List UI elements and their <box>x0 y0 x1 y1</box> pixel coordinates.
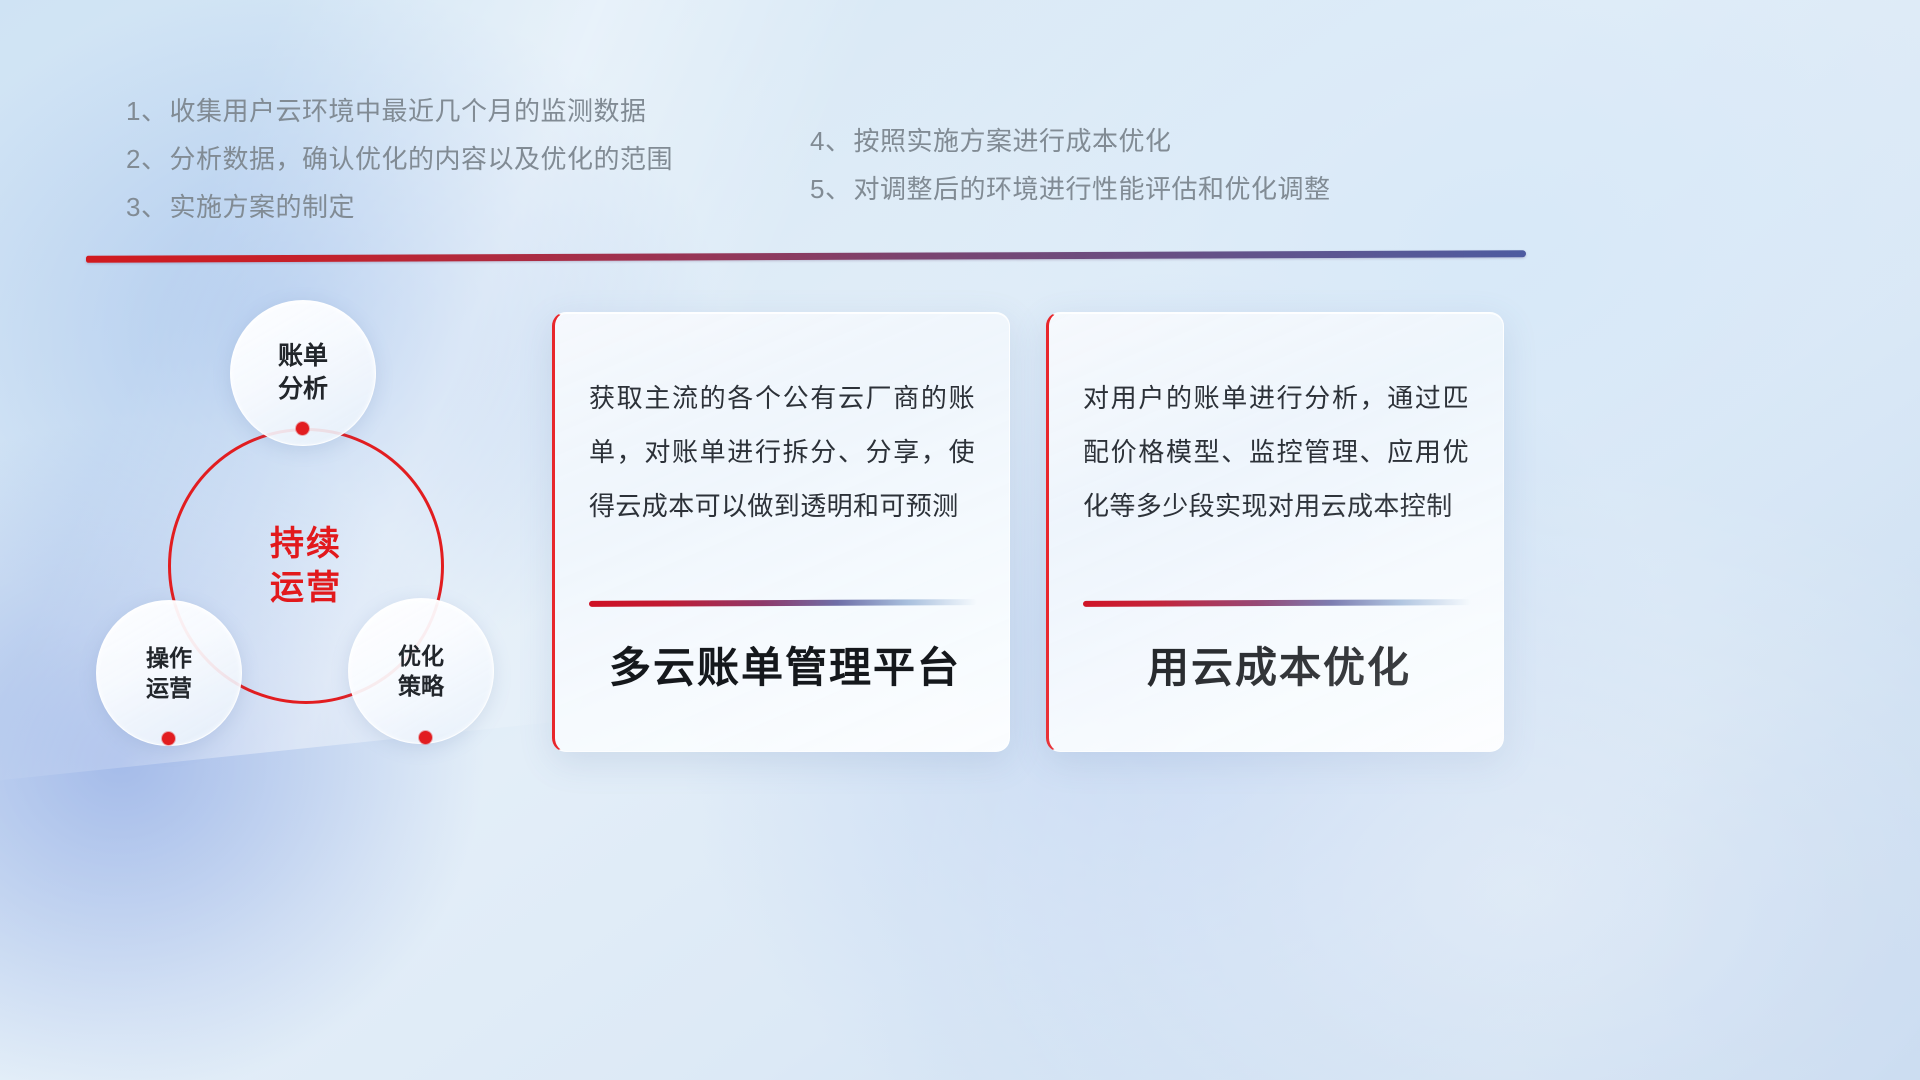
step-number: 1、 <box>126 96 167 126</box>
step-number: 5、 <box>810 174 851 204</box>
step-number: 2、 <box>126 144 167 174</box>
slide-canvas: 1、收集用户云环境中最近几个月的监测数据 2、分析数据，确认优化的内容以及优化的… <box>0 0 1920 1080</box>
step-item: 4、按照实施方案进行成本优化 <box>810 128 1330 154</box>
card-title: 用云成本优化 <box>1083 643 1475 693</box>
step-number: 4、 <box>810 126 851 156</box>
card-multicloud-billing-platform[interactable]: 获取主流的各个公有云厂商的账单，对账单进行拆分、分享，使得云成本可以做到透明和可… <box>552 312 1010 752</box>
connector-dot-left-icon <box>162 732 175 745</box>
step-item: 1、收集用户云环境中最近几个月的监测数据 <box>126 98 673 124</box>
continuous-operation-diagram: 持续 运营 账单 分析 操作 运营 优化 策略 <box>80 290 540 770</box>
card-cloud-cost-optimization[interactable]: 对用户的账单进行分析，通过匹配价格模型、监控管理、应用优化等多少段实现对用云成本… <box>1046 312 1504 752</box>
step-item: 5、对调整后的环境进行性能评估和优化调整 <box>810 176 1330 202</box>
steps-right-column: 4、按照实施方案进行成本优化 5、对调整后的环境进行性能评估和优化调整 <box>810 128 1330 224</box>
center-label-line-2: 运营 <box>270 566 342 610</box>
step-text: 按照实施方案进行成本优化 <box>853 126 1171 156</box>
step-text: 收集用户云环境中最近几个月的监测数据 <box>169 96 646 126</box>
step-item: 2、分析数据，确认优化的内容以及优化的范围 <box>126 146 673 172</box>
step-item: 3、实施方案的制定 <box>126 194 673 220</box>
card-accent-rule <box>589 599 977 607</box>
section-divider <box>86 250 1526 263</box>
step-number: 3、 <box>126 192 167 222</box>
card-title: 多云账单管理平台 <box>589 643 981 693</box>
node-label-line-1: 账单 <box>278 340 328 373</box>
steps-left-column: 1、收集用户云环境中最近几个月的监测数据 2、分析数据，确认优化的内容以及优化的… <box>126 98 673 242</box>
step-text: 实施方案的制定 <box>169 192 355 222</box>
center-ring-label: 持续 运营 <box>168 428 444 704</box>
step-text: 分析数据，确认优化的内容以及优化的范围 <box>169 144 673 174</box>
step-text: 对调整后的环境进行性能评估和优化调整 <box>853 174 1330 204</box>
center-label-line-1: 持续 <box>270 522 342 566</box>
card-accent-rule <box>1083 599 1471 607</box>
node-label-line-2: 分析 <box>278 373 328 406</box>
connector-dot-top-icon <box>296 422 309 435</box>
connector-dot-right-icon <box>419 731 432 744</box>
card-body-text: 对用户的账单进行分析，通过匹配价格模型、监控管理、应用优化等多少段实现对用云成本… <box>1083 371 1469 533</box>
card-body-text: 获取主流的各个公有云厂商的账单，对账单进行拆分、分享，使得云成本可以做到透明和可… <box>589 371 975 533</box>
